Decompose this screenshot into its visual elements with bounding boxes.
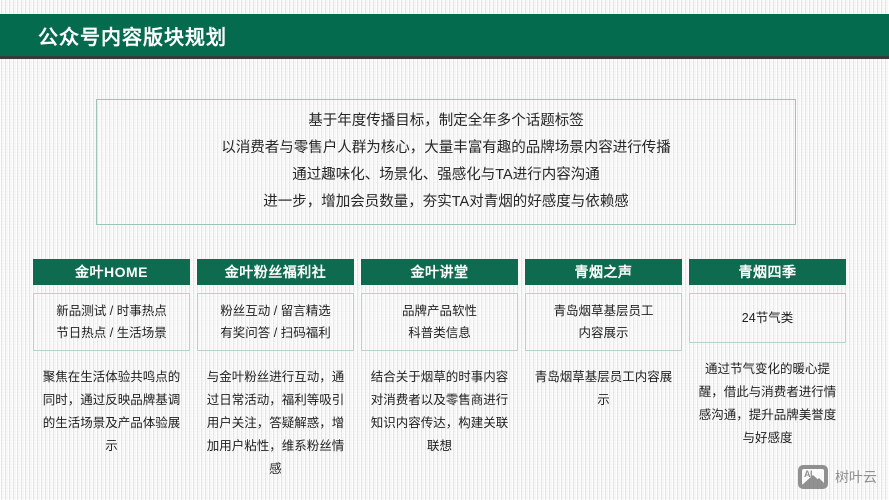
- pillar-tags-5: 24节气类: [689, 293, 846, 343]
- ai-image-icon: AI: [798, 465, 828, 489]
- mountain-shape-small: [812, 478, 824, 485]
- pillar-header-4: 青烟之声: [525, 259, 682, 285]
- pillar-tag-line: 科普类信息: [408, 322, 471, 344]
- slide-canvas: 公众号内容版块规划 基于年度传播目标，制定全年多个话题标签 以消费者与零售户人群…: [0, 0, 889, 500]
- intro-line-4: 进一步，增加会员数量，夯实TA对青烟的好感度与依赖感: [263, 189, 628, 216]
- content-pillar-column-3: 金叶讲堂 品牌产品软性 科普类信息 结合关于烟草的时事内容对消费者以及零售商进行…: [361, 259, 518, 481]
- pillar-description-5: 通过节气变化的暖心提醒，借此与消费者进行情感沟通，提升品牌美誉度与好感度: [689, 358, 846, 450]
- pillar-tag-line: 粉丝互动 / 留言精选: [220, 300, 330, 322]
- pillar-tag-line: 新品测试 / 时事热点: [56, 300, 166, 322]
- intro-line-3: 通过趣味化、场景化、强感化与TA进行内容沟通: [292, 162, 599, 189]
- pillar-description-3: 结合关于烟草的时事内容对消费者以及零售商进行知识内容传达，构建关联联想: [361, 366, 518, 458]
- content-pillar-column-4: 青烟之声 青岛烟草基层员工 内容展示 青岛烟草基层员工内容展示: [525, 259, 682, 481]
- content-pillar-column-2: 金叶粉丝福利社 粉丝互动 / 留言精选 有奖问答 / 扫码福利 与金叶粉丝进行互…: [197, 259, 354, 481]
- intro-statement-box: 基于年度传播目标，制定全年多个话题标签 以消费者与零售户人群为核心，大量丰富有趣…: [96, 99, 796, 225]
- pillar-header-2: 金叶粉丝福利社: [197, 259, 354, 285]
- intro-line-1: 基于年度传播目标，制定全年多个话题标签: [308, 108, 584, 135]
- pillar-tags-2: 粉丝互动 / 留言精选 有奖问答 / 扫码福利: [197, 293, 354, 351]
- pillar-tag-line: 24节气类: [742, 307, 793, 329]
- intro-line-2: 以消费者与零售户人群为核心，大量丰富有趣的品牌场景内容进行传播: [221, 135, 671, 162]
- watermark-label: 树叶云: [835, 467, 877, 487]
- pillar-header-5: 青烟四季: [689, 259, 846, 285]
- pillar-tag-line: 青岛烟草基层员工: [553, 300, 653, 322]
- pillar-tag-line: 有奖问答 / 扫码福利: [220, 322, 330, 344]
- page-title: 公众号内容版块规划: [38, 21, 227, 50]
- pillar-tags-4: 青岛烟草基层员工 内容展示: [525, 293, 682, 351]
- pillar-description-2: 与金叶粉丝进行互动，通过日常活动，福利等吸引用户关注，答疑解惑，增加用户粘性，维…: [197, 366, 354, 481]
- pillar-tag-line: 节日热点 / 生活场景: [56, 322, 166, 344]
- watermark: AI 树叶云: [798, 465, 877, 489]
- pillar-tag-line: 内容展示: [578, 322, 628, 344]
- pillar-header-3: 金叶讲堂: [361, 259, 518, 285]
- pillar-description-4: 青岛烟草基层员工内容展示: [525, 366, 682, 412]
- content-pillar-column-5: 青烟四季 24节气类 通过节气变化的暖心提醒，借此与消费者进行情感沟通，提升品牌…: [689, 259, 846, 481]
- content-pillar-columns: 金叶HOME 新品测试 / 时事热点 节日热点 / 生活场景 聚焦在生活体验共鸣…: [33, 259, 856, 481]
- pillar-tags-3: 品牌产品软性 科普类信息: [361, 293, 518, 351]
- ai-image-icon-inner: AI: [802, 469, 824, 485]
- pillar-tags-1: 新品测试 / 时事热点 节日热点 / 生活场景: [33, 293, 190, 351]
- pillar-header-1: 金叶HOME: [33, 259, 190, 285]
- pillar-description-1: 聚焦在生活体验共鸣点的同时，通过反映品牌基调的生活场景及产品体验展示: [33, 366, 190, 458]
- slide-title-bar: 公众号内容版块规划: [0, 14, 889, 56]
- pillar-tag-line: 品牌产品软性: [402, 300, 477, 322]
- content-pillar-column-1: 金叶HOME 新品测试 / 时事热点 节日热点 / 生活场景 聚焦在生活体验共鸣…: [33, 259, 190, 481]
